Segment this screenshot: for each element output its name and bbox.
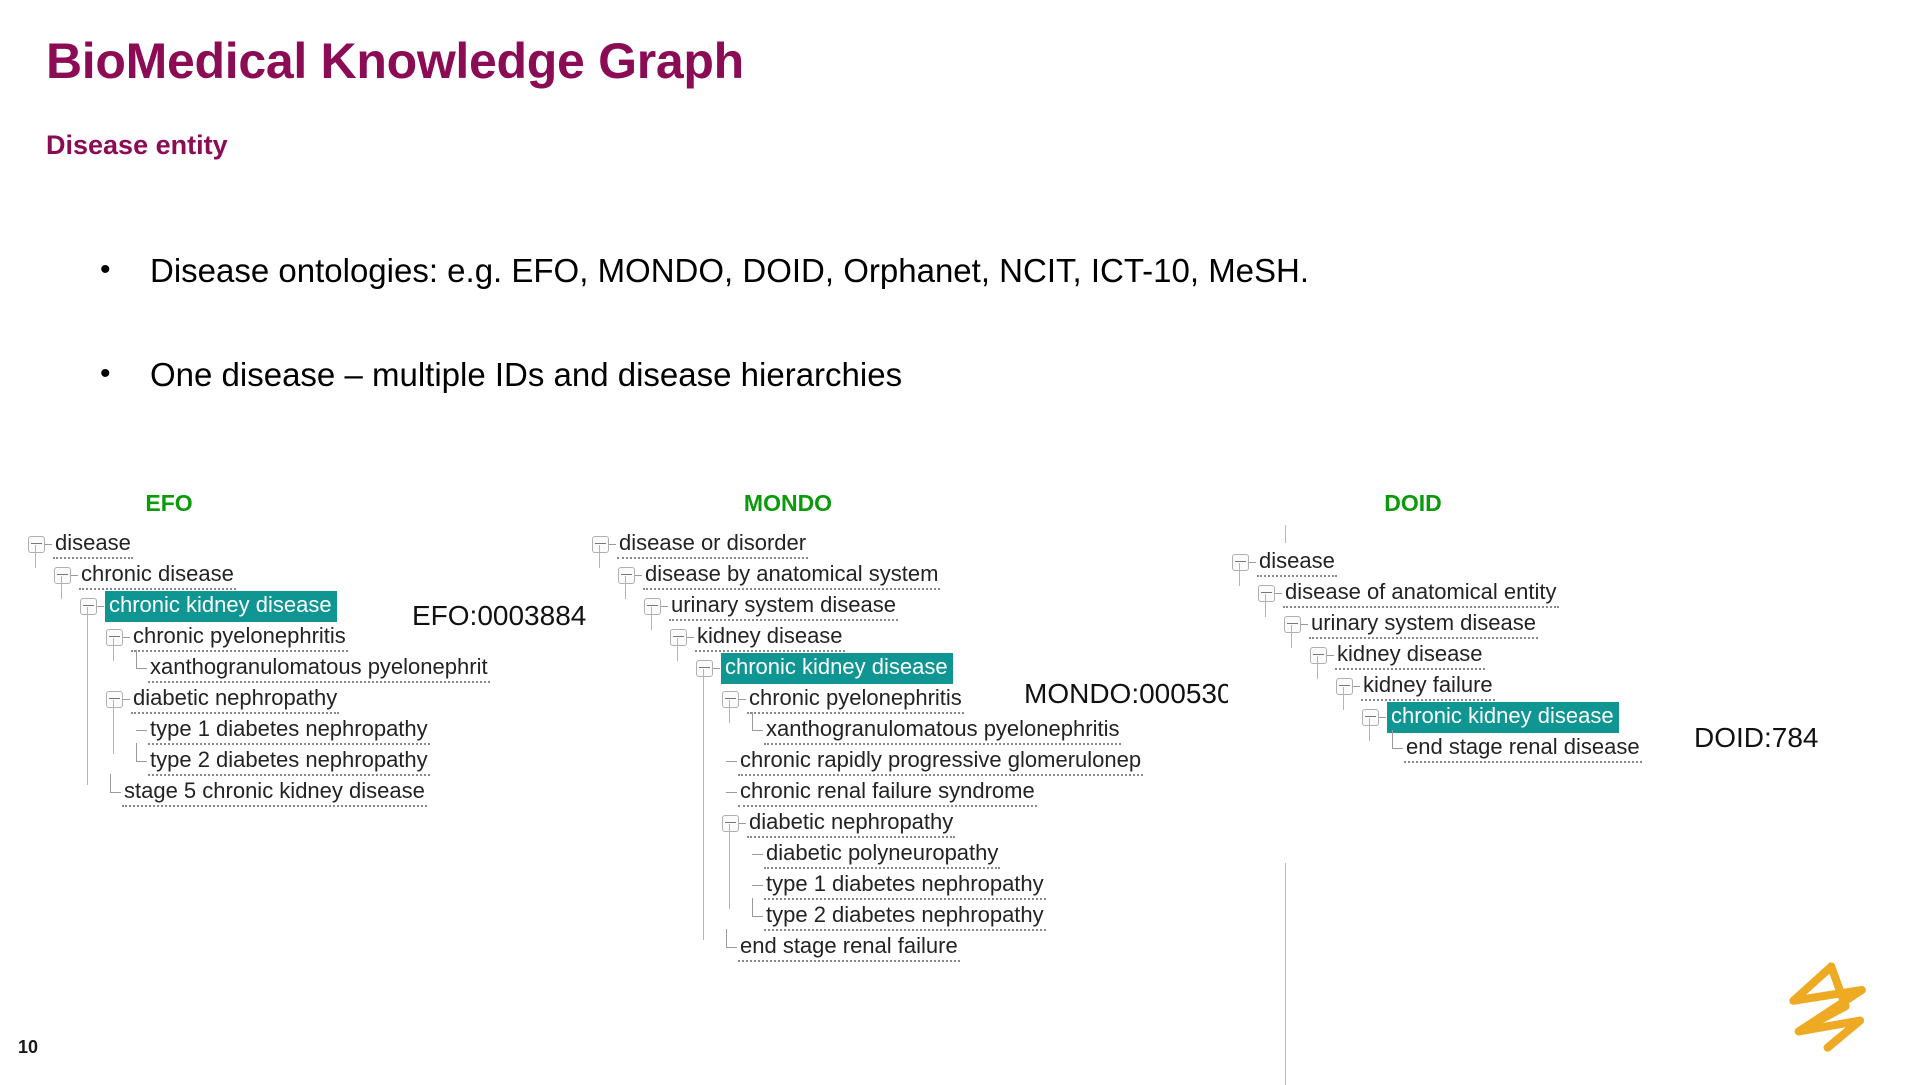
tree-node-label[interactable]: urinary system disease — [1309, 610, 1538, 639]
id-tag-mondo: MONDO:0005300 — [1024, 678, 1248, 710]
tree-node[interactable]: end stage renal failure — [588, 932, 1288, 963]
expander-minus-icon[interactable] — [722, 815, 739, 832]
tree-guide-line — [1291, 625, 1292, 649]
tree-efo: diseasechronic diseasechronic kidney dis… — [24, 525, 624, 808]
tree-node[interactable]: chronic disease — [24, 560, 624, 591]
expander-minus-icon[interactable] — [1336, 678, 1353, 695]
tree-node[interactable]: type 1 diabetes nephropathy — [588, 870, 1288, 901]
expander-minus-icon[interactable] — [80, 598, 97, 615]
tree-connector — [1249, 562, 1256, 563]
tree-node[interactable]: disease of anatomical entity — [1228, 578, 1918, 609]
tree-node[interactable]: xanthogranulomatous pyelonephritis — [588, 715, 1288, 746]
expander-minus-icon[interactable] — [670, 629, 687, 646]
tree-node-label[interactable]: chronic pyelonephritis — [747, 685, 964, 714]
tree-connector — [687, 637, 694, 638]
tree-node-label[interactable]: end stage renal failure — [738, 933, 960, 962]
tree-node[interactable]: urinary system disease — [1228, 609, 1918, 640]
ontology-panels: EFO diseasechronic diseasechronic kidney… — [0, 490, 1920, 1080]
tree-node[interactable]: diabetic nephropathy — [588, 808, 1288, 839]
tree-node[interactable]: type 2 diabetes nephropathy — [24, 746, 624, 777]
bullet-marker-icon: • — [100, 354, 150, 394]
id-tag-efo: EFO:0003884 — [412, 600, 586, 632]
expander-minus-icon[interactable] — [106, 691, 123, 708]
tree-node-label[interactable]: type 1 diabetes nephropathy — [764, 871, 1046, 900]
ontology-panel-doid: DOID diseasedisease of anatomical entity… — [1228, 490, 1918, 863]
tree-node[interactable]: type 2 diabetes nephropathy — [588, 901, 1288, 932]
tree-node-label[interactable]: stage 5 chronic kidney disease — [122, 778, 427, 807]
tree-guide-line — [1265, 594, 1266, 618]
expander-minus-icon[interactable] — [1284, 616, 1301, 633]
expander-minus-icon[interactable] — [1258, 585, 1275, 602]
tree-node[interactable]: disease or disorder — [588, 529, 1288, 560]
tree-connector — [71, 575, 78, 576]
tree-connector — [123, 699, 130, 700]
tree-node[interactable]: chronic renal failure syndrome — [588, 777, 1288, 808]
tree-node-label[interactable]: kidney disease — [1335, 641, 1485, 670]
page-subtitle: Disease entity — [46, 130, 228, 161]
tree-tee-icon — [748, 847, 763, 862]
tree-guide-line — [113, 638, 114, 662]
tree-elbow-icon — [132, 754, 147, 769]
tree-connector — [739, 699, 746, 700]
page-title: BioMedical Knowledge Graph — [46, 32, 744, 90]
tree-connector — [635, 575, 642, 576]
tree-node[interactable]: kidney disease — [1228, 640, 1918, 671]
tree-node-label[interactable]: kidney failure — [1361, 672, 1495, 701]
panel-title-efo: EFO — [24, 490, 314, 517]
tree-node[interactable]: stage 5 chronic kidney disease — [24, 777, 624, 808]
bullet-item: • Disease ontologies: e.g. EFO, MONDO, D… — [100, 250, 1800, 292]
tree-node-label[interactable]: disease or disorder — [617, 530, 808, 559]
tree-node-label[interactable]: chronic disease — [79, 561, 236, 590]
tree-elbow-icon — [748, 723, 763, 738]
ontology-panel-mondo: MONDO disease or disorderdisease by anat… — [588, 490, 1288, 1085]
tree-mondo: disease or disorderdisease by anatomical… — [588, 525, 1288, 963]
expander-minus-icon[interactable] — [54, 567, 71, 584]
tree-node[interactable]: disease — [1228, 547, 1918, 578]
tree-guide-line — [677, 638, 678, 662]
tree-node[interactable]: type 1 diabetes nephropathy — [24, 715, 624, 746]
tree-viewport-mondo[interactable]: disease or disorderdisease by anatomical… — [588, 525, 1288, 1085]
tree-node-label[interactable]: type 2 diabetes nephropathy — [148, 747, 430, 776]
bullet-marker-icon: • — [100, 250, 150, 290]
expander-minus-icon[interactable] — [722, 691, 739, 708]
panel-title-mondo: MONDO — [588, 490, 988, 517]
expander-minus-icon[interactable] — [28, 536, 45, 553]
tree-node-label[interactable]: chronic rapidly progressive glomerulonep — [738, 747, 1143, 776]
tree-guide-line — [113, 700, 114, 755]
tree-node[interactable]: kidney failure — [1228, 671, 1918, 702]
bullet-list: • Disease ontologies: e.g. EFO, MONDO, D… — [100, 250, 1800, 458]
tree-guide-line — [1317, 656, 1318, 680]
tree-elbow-icon — [106, 785, 121, 800]
expander-minus-icon[interactable] — [1362, 709, 1379, 726]
tree-connector — [1379, 717, 1386, 718]
page-number: 10 — [18, 1037, 38, 1058]
tree-tee-icon — [722, 754, 737, 769]
bullet-text: One disease – multiple IDs and disease h… — [150, 354, 902, 396]
tree-connector — [609, 544, 616, 545]
tree-node[interactable]: diabetic polyneuropathy — [588, 839, 1288, 870]
expander-minus-icon[interactable] — [618, 567, 635, 584]
tree-node[interactable]: kidney disease — [588, 622, 1288, 653]
tree-connector — [1327, 655, 1334, 656]
tree-tee-icon — [722, 785, 737, 800]
tree-node-label[interactable]: kidney disease — [695, 623, 845, 652]
tree-node-label[interactable]: xanthogranulomatous pyelonephrit — [148, 654, 490, 683]
astrazeneca-logo — [1778, 954, 1888, 1062]
tree-guide-line — [1239, 563, 1240, 587]
tree-node-label-selected[interactable]: chronic kidney disease — [105, 591, 337, 622]
tree-guide-line — [35, 545, 36, 569]
tree-guide-line — [87, 607, 88, 786]
tree-node-label[interactable]: disease by anatomical system — [643, 561, 940, 590]
tree-viewport-efo[interactable]: diseasechronic diseasechronic kidney dis… — [24, 525, 624, 925]
tree-guide-line — [729, 700, 730, 724]
tree-elbow-icon — [1388, 741, 1403, 756]
tree-node[interactable]: urinary system disease — [588, 591, 1288, 622]
tree-connector — [45, 544, 52, 545]
tree-tee-icon — [748, 878, 763, 893]
tree-guide-line — [729, 824, 730, 910]
tree-guide-line — [1343, 687, 1344, 711]
tree-node-label-selected[interactable]: chronic kidney disease — [721, 653, 953, 684]
tree-node-label[interactable]: type 2 diabetes nephropathy — [764, 902, 1046, 931]
expander-minus-icon[interactable] — [644, 598, 661, 615]
tree-node-label-selected[interactable]: chronic kidney disease — [1387, 702, 1619, 733]
tree-node-label[interactable]: disease — [53, 530, 133, 559]
tree-guide-line — [61, 576, 62, 600]
tree-guide-line — [1369, 718, 1370, 742]
tree-connector — [739, 823, 746, 824]
tree-node-label[interactable]: chronic renal failure syndrome — [738, 778, 1037, 807]
tree-node-label[interactable]: diabetic nephropathy — [131, 685, 339, 714]
tree-tee-icon — [132, 723, 147, 738]
expander-minus-icon[interactable] — [592, 536, 609, 553]
tree-node-label[interactable]: xanthogranulomatous pyelonephritis — [764, 716, 1121, 745]
tree-node-label[interactable]: diabetic polyneuropathy — [764, 840, 1000, 869]
tree-connector — [661, 606, 668, 607]
tree-node[interactable]: disease by anatomical system — [588, 560, 1288, 591]
tree-guide-line — [625, 576, 626, 600]
tree-elbow-icon — [132, 661, 147, 676]
tree-elbow-icon — [722, 940, 737, 955]
expander-minus-icon[interactable] — [1232, 554, 1249, 571]
tree-node-label[interactable]: type 1 diabetes nephropathy — [148, 716, 430, 745]
tree-guide-line — [651, 607, 652, 631]
tree-node-label[interactable]: disease of anatomical entity — [1283, 579, 1559, 608]
bullet-item: • One disease – multiple IDs and disease… — [100, 354, 1800, 396]
tree-node-label[interactable]: chronic pyelonephritis — [131, 623, 348, 652]
tree-connector — [1353, 686, 1360, 687]
expander-minus-icon[interactable] — [696, 660, 713, 677]
slide-root: BioMedical Knowledge Graph Disease entit… — [0, 0, 1920, 1080]
ontology-panel-efo: EFO diseasechronic diseasechronic kidney… — [24, 490, 624, 925]
tree-node[interactable]: disease — [24, 529, 624, 560]
expander-minus-icon[interactable] — [1310, 647, 1327, 664]
bullet-text: Disease ontologies: e.g. EFO, MONDO, DOI… — [150, 250, 1309, 292]
tree-viewport-doid[interactable]: diseasedisease of anatomical entityurina… — [1228, 543, 1918, 863]
tree-node-label[interactable]: disease — [1257, 548, 1337, 577]
tree-connector — [1301, 624, 1308, 625]
tree-node-label[interactable]: end stage renal disease — [1404, 734, 1642, 763]
tree-node-label[interactable]: urinary system disease — [669, 592, 898, 621]
tree-node[interactable]: chronic rapidly progressive glomerulonep — [588, 746, 1288, 777]
tree-node[interactable]: xanthogranulomatous pyelonephrit — [24, 653, 624, 684]
panel-title-doid: DOID — [1228, 490, 1598, 517]
tree-connector — [123, 637, 130, 638]
tree-node-label[interactable]: diabetic nephropathy — [747, 809, 955, 838]
tree-connector — [1275, 593, 1282, 594]
tree-guide-line — [703, 669, 704, 941]
tree-elbow-icon — [748, 909, 763, 924]
expander-minus-icon[interactable] — [106, 629, 123, 646]
tree-connector — [713, 668, 720, 669]
tree-connector — [97, 606, 104, 607]
tree-node[interactable]: diabetic nephropathy — [24, 684, 624, 715]
tree-guide-line — [599, 545, 600, 569]
id-tag-doid: DOID:784 — [1694, 722, 1819, 754]
